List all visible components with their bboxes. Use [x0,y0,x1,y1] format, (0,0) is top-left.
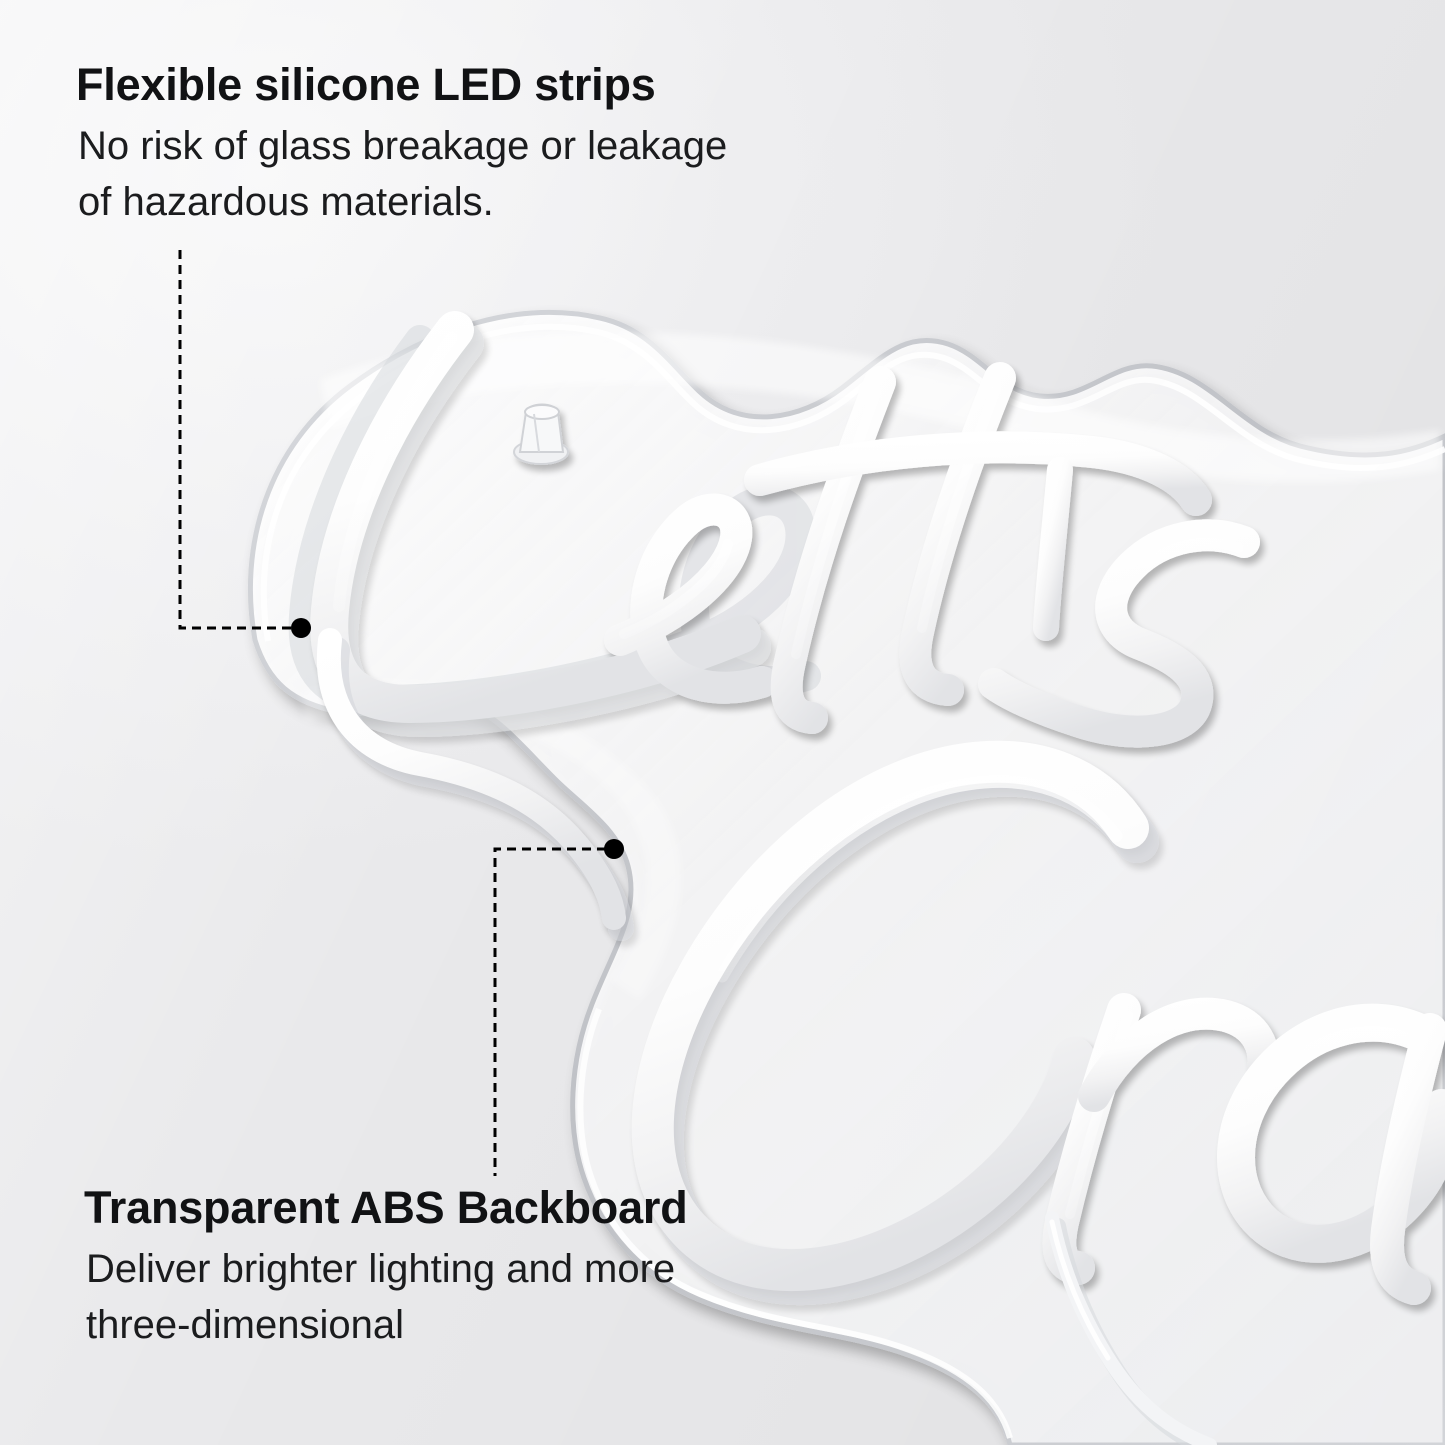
callout-bottom-body-line-1: Deliver brighter lighting and more [86,1241,688,1297]
callout-transparent-abs-backboard: Transparent ABS Backboard Deliver bright… [84,1181,688,1353]
product-photo-annotation: Flexible silicone LED strips No risk of … [0,0,1445,1445]
callout-top-heading: Flexible silicone LED strips [76,58,727,112]
leader-dot-top [291,618,311,638]
callout-flexible-silicone-led-strips: Flexible silicone LED strips No risk of … [76,58,727,230]
callout-top-body-line-2: of hazardous materials. [78,174,727,230]
callout-bottom-heading: Transparent ABS Backboard [84,1181,688,1235]
callout-bottom-body: Deliver brighter lighting and more three… [86,1241,688,1353]
callout-top-body: No risk of glass breakage or leakage of … [78,118,727,230]
leader-dot-bottom [604,839,624,859]
callout-bottom-body-line-2: three-dimensional [86,1297,688,1353]
callout-top-body-line-1: No risk of glass breakage or leakage [78,118,727,174]
apostrophe [1046,470,1060,628]
